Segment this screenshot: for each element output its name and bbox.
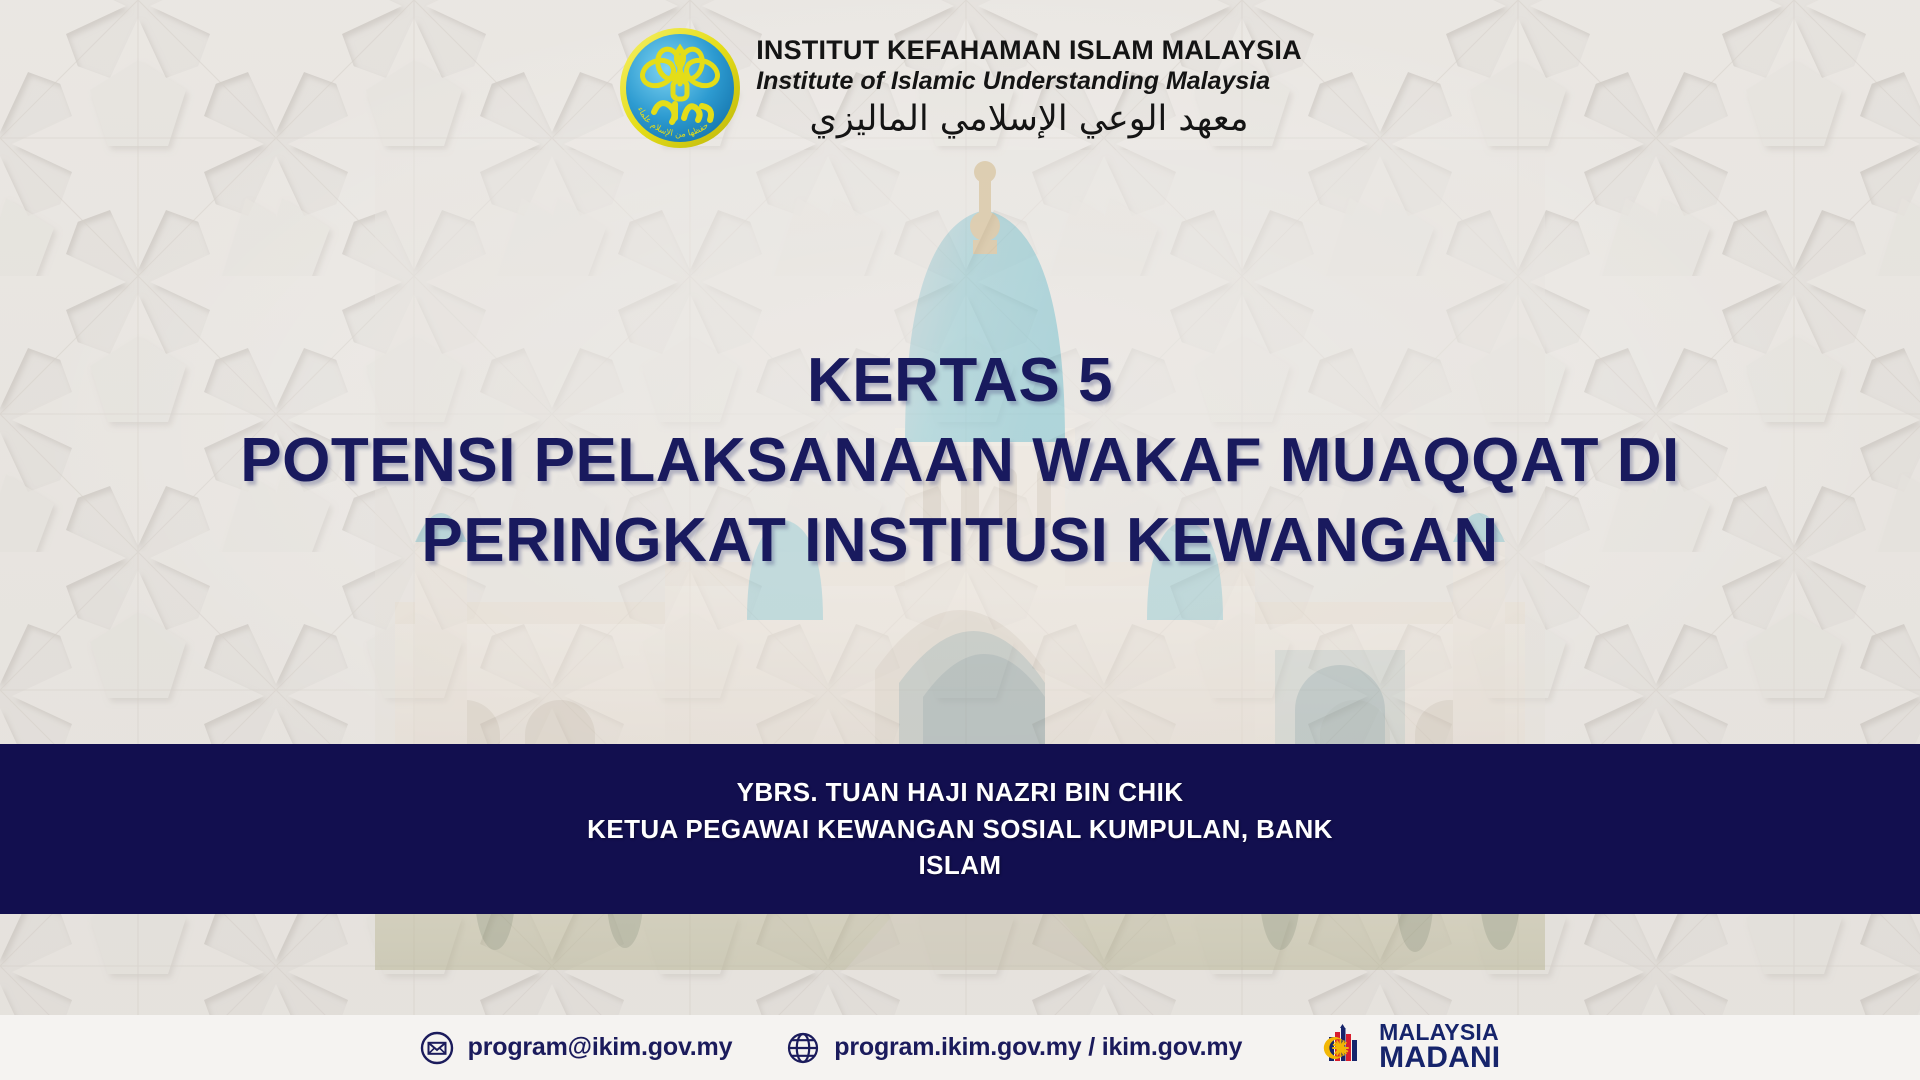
organisation-name-block: INSTITUT KEFAHAMAN ISLAM MALAYSIA Instit…	[756, 35, 1302, 142]
organisation-header: حفظها من الإسلام علماء INSTITUT KEFAHAMA…	[0, 26, 1920, 150]
speaker-title-line-2: ISLAM	[919, 847, 1002, 884]
madani-word-madani: MADANI	[1379, 1044, 1500, 1073]
org-name-english: Institute of Islamic Understanding Malay…	[756, 66, 1270, 96]
speaker-title-line-1: KETUA PEGAWAI KEWANGAN SOSIAL KUMPULAN, …	[587, 811, 1333, 848]
website-contact[interactable]: program.ikim.gov.my / ikim.gov.my	[786, 1031, 1242, 1065]
envelope-icon	[420, 1031, 454, 1065]
malaysia-madani-wordmark: MALAYSIA MADANI	[1379, 1022, 1500, 1072]
org-name-malay: INSTITUT KEFAHAMAN ISLAM MALAYSIA	[756, 35, 1302, 65]
title-paper-number: KERTAS 5	[60, 345, 1860, 417]
email-address: program@ikim.gov.my	[468, 1033, 733, 1062]
globe-icon	[786, 1031, 820, 1065]
title-line-1: POTENSI PELAKSANAAN WAKAF MUAQQAT DI	[60, 425, 1860, 497]
slide-title: KERTAS 5 POTENSI PELAKSANAAN WAKAF MUAQQ…	[0, 345, 1920, 577]
malaysia-madani-icon	[1320, 1023, 1370, 1073]
malaysia-madani-logo[interactable]: MALAYSIA MADANI	[1320, 1022, 1500, 1072]
title-slide: حفظها من الإسلام علماء INSTITUT KEFAHAMA…	[0, 0, 1920, 1080]
ikim-logo-icon: حفظها من الإسلام علماء	[618, 26, 742, 150]
speaker-banner: YBRS. TUAN HAJI NAZRI BIN CHIK KETUA PEG…	[0, 744, 1920, 914]
org-name-arabic: معهد الوعي الإسلامي الماليزي	[809, 98, 1248, 142]
contact-footer: program@ikim.gov.my program.ikim.gov.my …	[0, 1015, 1920, 1080]
speaker-name: YBRS. TUAN HAJI NAZRI BIN CHIK	[737, 774, 1184, 811]
website-address: program.ikim.gov.my / ikim.gov.my	[834, 1033, 1242, 1062]
email-contact[interactable]: program@ikim.gov.my	[420, 1031, 733, 1065]
title-line-2: PERINGKAT INSTITUSI KEWANGAN	[60, 505, 1860, 577]
